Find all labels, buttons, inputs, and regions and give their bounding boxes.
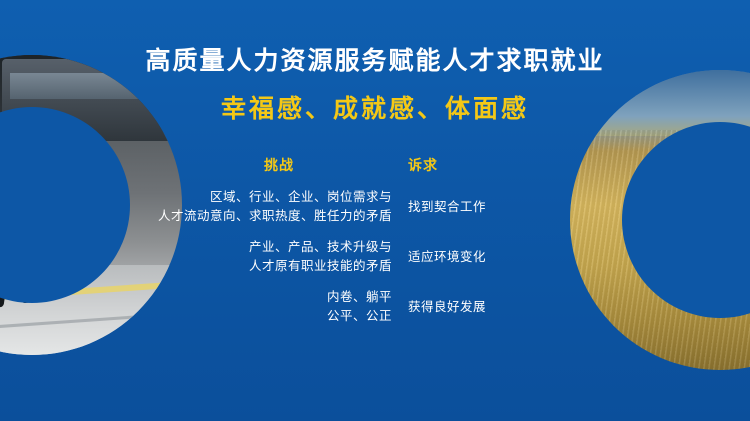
table-row: 内卷、躺平 公平、公正 获得良好发展 [150, 287, 590, 325]
challenge-cell-2-line-2: 人才原有职业技能的矛盾 [150, 256, 392, 275]
headline-primary: 高质量人力资源服务赋能人才求职就业 [0, 44, 750, 78]
headline-block: 高质量人力资源服务赋能人才求职就业 幸福感、成就感、体面感 [0, 44, 750, 126]
need-cell-3: 获得良好发展 [408, 297, 590, 316]
challenge-cell-3-line-1: 内卷、躺平 [150, 287, 392, 306]
need-cell-2-line-1: 适应环境变化 [408, 247, 590, 266]
challenge-need-matrix: 挑战 诉求 区域、行业、企业、岗位需求与 人才流动意向、求职热度、胜任力的矛盾 … [150, 155, 590, 325]
challenge-cell-1: 区域、行业、企业、岗位需求与 人才流动意向、求职热度、胜任力的矛盾 [150, 187, 408, 225]
table-row: 产业、产品、技术升级与 人才原有职业技能的矛盾 适应环境变化 [150, 237, 590, 275]
headline-secondary: 幸福感、成就感、体面感 [0, 92, 750, 126]
column-header-need-cell: 诉求 [408, 155, 590, 175]
column-header-challenge: 挑战 [264, 158, 294, 174]
matrix-header-row: 挑战 诉求 [150, 155, 590, 175]
challenge-cell-1-line-2: 人才流动意向、求职热度、胜任力的矛盾 [150, 206, 392, 225]
challenge-cell-3: 内卷、躺平 公平、公正 [150, 287, 408, 325]
column-header-need: 诉求 [408, 158, 438, 174]
need-cell-1: 找到契合工作 [408, 197, 590, 216]
need-cell-3-line-1: 获得良好发展 [408, 297, 590, 316]
need-cell-2: 适应环境变化 [408, 247, 590, 266]
table-row: 区域、行业、企业、岗位需求与 人才流动意向、求职热度、胜任力的矛盾 找到契合工作 [150, 187, 590, 225]
need-cell-1-line-1: 找到契合工作 [408, 197, 590, 216]
challenge-cell-2-line-1: 产业、产品、技术升级与 [150, 237, 392, 256]
column-header-challenge-cell: 挑战 [150, 155, 408, 175]
challenge-cell-3-line-2: 公平、公正 [150, 306, 392, 325]
slide-canvas: 9 高质量人力资源服务赋能人才求职就业 幸福感、成就感、体面感 挑战 诉求 [0, 0, 750, 421]
challenge-cell-1-line-1: 区域、行业、企业、岗位需求与 [150, 187, 392, 206]
challenge-cell-2: 产业、产品、技术升级与 人才原有职业技能的矛盾 [150, 237, 408, 275]
